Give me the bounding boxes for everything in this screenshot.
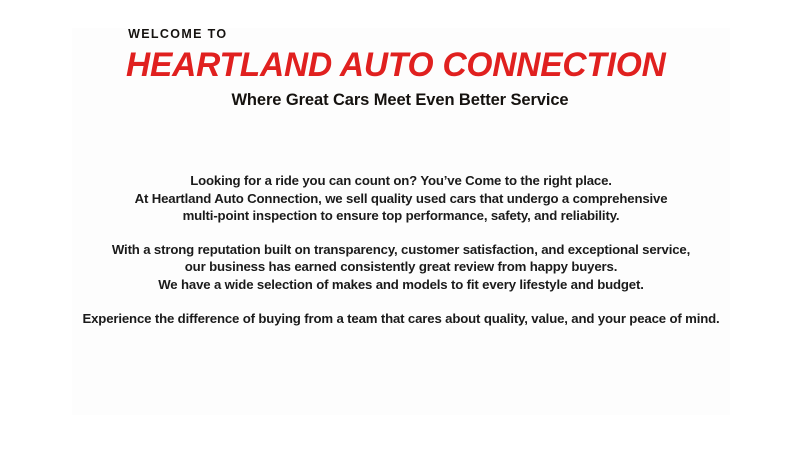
copy-line: multi-point inspection to ensure top per…: [72, 207, 730, 225]
copy-line: At Heartland Auto Connection, we sell qu…: [72, 190, 730, 208]
copy-line: Looking for a ride you can count on? You…: [72, 172, 730, 190]
body-copy: Looking for a ride you can count on? You…: [72, 172, 730, 327]
copy-line: With a strong reputation built on transp…: [72, 241, 730, 259]
dealer-info-canvas: WELCOME TO HEARTLAND AUTO CONNECTION Whe…: [0, 0, 800, 450]
copy-line: our business has earned consistently gre…: [72, 258, 730, 276]
copy-line: We have a wide selection of makes and mo…: [72, 276, 730, 294]
masthead-inner: WELCOME TO HEARTLAND AUTO CONNECTION Whe…: [126, 28, 674, 108]
copy-block: Looking for a ride you can count on? You…: [72, 172, 730, 225]
welcome-eyebrow: WELCOME TO: [128, 28, 674, 41]
copy-line: Experience the difference of buying from…: [72, 310, 730, 328]
copy-block: With a strong reputation built on transp…: [72, 241, 730, 294]
brand-tagline: Where Great Cars Meet Even Better Servic…: [126, 92, 674, 109]
copy-block: Experience the difference of buying from…: [72, 310, 730, 328]
brand-title: HEARTLAND AUTO CONNECTION: [126, 48, 666, 82]
masthead: WELCOME TO HEARTLAND AUTO CONNECTION Whe…: [0, 28, 800, 110]
